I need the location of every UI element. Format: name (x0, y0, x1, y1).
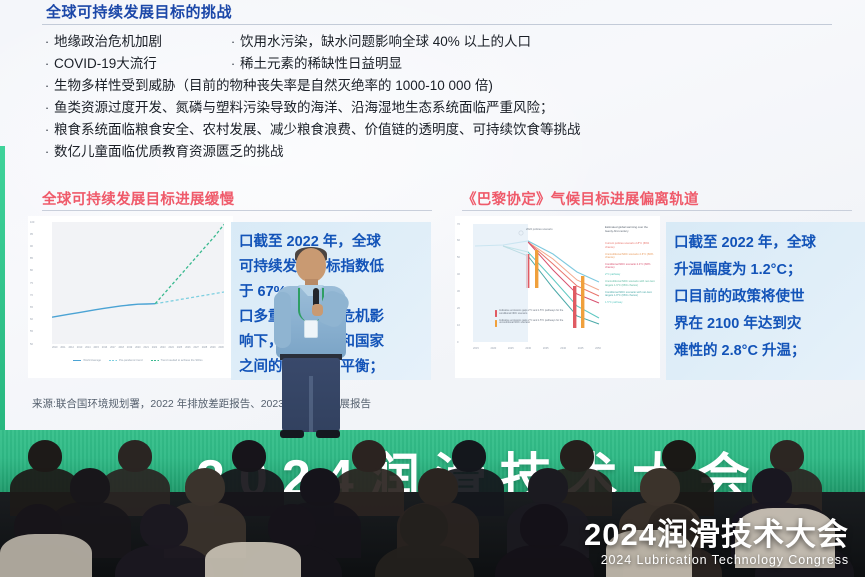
bullet-marker: · (40, 54, 54, 74)
audience-head (300, 468, 340, 506)
chart-x-tick: 2030 (218, 346, 223, 349)
bullet-text: 地缘政治危机加剧 (54, 32, 204, 52)
audience-head (752, 468, 792, 506)
legend-swatch-icon (151, 360, 159, 361)
chart-y-tick: 65 (30, 306, 33, 309)
bullet-row: · 粮食系统面临粮食安全、农村发展、减少粮食浪费、价值链的透明度、可持续饮食等挑… (40, 120, 840, 140)
chart-legend: World Average Pre-pandemic trend Trend n… (52, 359, 224, 362)
chart-key: Indicative emissions gaps 2°C and 1.5°C … (495, 310, 573, 329)
chart-y-tick: 20 (457, 307, 460, 310)
chart-x-tick: 2014 (85, 346, 90, 349)
bullet-marker: · (40, 76, 54, 96)
chart-x-tick: 2028 (202, 346, 207, 349)
chart-emissions-gap-warming: 706050403020100 2022 policies scenari (455, 216, 660, 378)
bullet-subrow: · 稀土元素的稀缺性日益明显 (226, 54, 402, 74)
event-watermark: 2024润滑技术大会 2024 Lubrication Technology C… (584, 517, 849, 567)
scenario-label: 2°C pathway (605, 273, 657, 276)
bullet-marker: · (40, 98, 54, 118)
chart-x-axis-labels: 2010201120122013201420152016201720182019… (52, 346, 224, 349)
chart-x-tick: 2035 (543, 347, 549, 350)
speaker-head (296, 248, 326, 282)
chart-x-tick: 2050 (595, 347, 601, 350)
panel-heading-left: 全球可持续发展目标进展缓慢 (42, 188, 234, 209)
speaker-badge (304, 320, 318, 338)
audience-head (185, 468, 225, 506)
chart-x-tick: 2015 (473, 347, 479, 350)
projected-slide: 全球可持续发展目标的挑战 · 地缘政治危机加剧 · 饮用水污染，缺水问题影响全球… (0, 0, 865, 430)
audience-head (520, 504, 568, 549)
bullet-row: · 地缘政治危机加剧 · 饮用水污染，缺水问题影响全球 40% 以上的人口 (40, 32, 840, 52)
chart-x-tick: 2020 (490, 347, 496, 350)
audience-seat-back (205, 542, 301, 577)
chart-y-tick: 10 (457, 324, 460, 327)
bullet-text: 数亿儿童面临优质教育资源匮乏的挑战 (54, 142, 284, 162)
speaker-shoe (280, 430, 304, 438)
chart-y-tick: 70 (30, 294, 33, 297)
bullet-row: · 数亿儿童面临优质教育资源匮乏的挑战 (40, 142, 840, 162)
scenario-marker-label: 2022 policies scenario (526, 228, 553, 231)
chart-y-tick: 60 (457, 239, 460, 242)
chart-x-tick: 2017 (110, 346, 115, 349)
speaker-shoe (316, 430, 340, 438)
bullet-text: 鱼类资源过度开发、氮磷与塑料污染导致的海洋、沿海湿地生态系统面临严重风险； (54, 98, 554, 118)
chart-y-tick: 70 (457, 223, 460, 226)
chart-x-tick: 2030 (525, 347, 531, 350)
chart-y-tick: 55 (30, 330, 33, 333)
slide-title: 全球可持续发展目标的挑战 (46, 1, 232, 22)
chart-x-tick: 2040 (560, 347, 566, 350)
chart-x-tick: 2012 (68, 346, 73, 349)
panel-divider-right (462, 210, 852, 211)
chart-y-tick: 60 (30, 318, 33, 321)
callout-line: 界在 2100 年达到灾 (674, 311, 859, 338)
bullet-row: · 生物多样性受到威胁（目前的物种丧失率是自然灭绝率的 1000-10 000 … (40, 76, 840, 96)
chart-y-tick: 50 (457, 256, 460, 259)
chart-notes: Estimated global warming over the twenty… (605, 226, 657, 308)
callout-line: 口截至 2022 年，全球 (674, 230, 859, 257)
chart-y-tick: 80 (30, 269, 33, 272)
chart-x-tick: 2011 (60, 346, 65, 349)
chart-lines (52, 222, 224, 344)
scenario-label: 1.5°C pathway (605, 301, 657, 304)
watermark-title-en: 2024 Lubrication Technology Congress (584, 553, 849, 567)
chart-x-tick: 2025 (508, 347, 514, 350)
key-item: Indicative emissions gaps 2°C and 1.5°C … (495, 310, 573, 317)
chart-y-tick: 75 (30, 282, 33, 285)
callout-line: 口目前的政策将使世 (674, 284, 859, 311)
speaker-figure (268, 248, 354, 438)
legend-swatch-icon (73, 360, 81, 361)
scenario-label: Unconditional NDC scenario 2.6°C (66% ch… (605, 253, 657, 260)
chart-y-tick: 0 (457, 341, 458, 344)
bullet-list: · 地缘政治危机加剧 · 饮用水污染，缺水问题影响全球 40% 以上的人口 · … (40, 32, 840, 164)
audience-head (140, 504, 188, 549)
scenario-label: Conditional NDC scenario 2.4°C (66% chan… (605, 263, 657, 270)
callout-box-right: 口截至 2022 年，全球 升温幅度为 1.2°C； 口目前的政策将使世 界在 … (666, 222, 865, 380)
chart-x-tick: 2018 (118, 346, 123, 349)
conference-stage-scene: 全球可持续发展目标的挑战 · 地缘政治危机加剧 · 饮用水污染，缺水问题影响全球… (0, 0, 865, 577)
chart-y-tick: 85 (30, 257, 33, 260)
chart-sdg-index-progress: 10095908580757065605550 2010201120122013… (28, 216, 233, 378)
chart-x-tick: 2015 (93, 346, 98, 349)
chart-x-tick: 2027 (193, 346, 198, 349)
chart-x-tick: 2022 (152, 346, 157, 349)
callout-line: 升温幅度为 1.2°C； (674, 257, 859, 284)
bullet-row: · 鱼类资源过度开发、氮磷与塑料污染导致的海洋、沿海湿地生态系统面临严重风险； (40, 98, 840, 118)
bullet-marker: · (226, 54, 240, 74)
chart-plot-area (52, 222, 224, 344)
panel-heading-right: 《巴黎协定》气候目标进展偏离轨道 (462, 188, 699, 209)
chart-x-tick: 2029 (210, 346, 215, 349)
scenario-label: Current policies scenario 2.8°C (66% cha… (605, 242, 657, 249)
chart-x-tick: 2024 (168, 346, 173, 349)
bullet-row: · COVID-19大流行 · 稀土元素的稀缺性日益明显 (40, 54, 840, 74)
chart-y-tick: 40 (457, 273, 460, 276)
chart-y-tick: 100 (30, 221, 34, 224)
speaker-hand (312, 304, 323, 316)
key-swatch-icon (495, 310, 497, 317)
key-item: Indicative emissions gaps 2°C and 1.5°C … (495, 320, 573, 327)
bullet-text: 饮用水污染，缺水问题影响全球 40% 以上的人口 (240, 32, 531, 52)
stage-wall-green-edge (0, 146, 5, 430)
audience-head (418, 468, 458, 506)
chart-y-tick: 95 (30, 233, 33, 236)
chart-x-axis-labels: 20152020202520302035204020452050 (473, 347, 601, 350)
chart-y-tick: 30 (457, 290, 460, 293)
callout-line: 难性的 2.8°C 升温； (674, 338, 859, 365)
panel-divider-left (42, 210, 432, 211)
bullet-text: COVID-19大流行 (54, 54, 204, 74)
key-label: Indicative emissions gaps 2°C and 1.5°C … (499, 310, 573, 317)
scenario-label: Unconditional NDC scenario with net-zero… (605, 280, 657, 287)
legend-swatch-icon (109, 360, 117, 361)
audience-head (400, 504, 448, 549)
legend-label: Pre-pandemic trend (119, 359, 143, 362)
bullet-marker: · (40, 142, 54, 162)
chart-y-tick: 90 (30, 245, 33, 248)
legend-label: World Average (83, 359, 101, 362)
audience-head (640, 468, 680, 506)
bullet-text: 粮食系统面临粮食安全、农村发展、减少粮食浪费、价值链的透明度、可持续饮食等挑战 (54, 120, 581, 140)
chart-scenario-labels: Current policies scenario 2.8°C (66% cha… (605, 242, 657, 304)
chart-x-tick: 2025 (177, 346, 182, 349)
speaker-left-arm (274, 292, 291, 348)
bullet-text: 生物多样性受到威胁（目前的物种丧失率是自然灭绝率的 1000-10 000 倍) (54, 76, 493, 96)
audience-seat-back (0, 534, 92, 577)
scenario-label: Conditional NDC scenario with net-zero t… (605, 291, 657, 298)
watermark-title-cn: 2024润滑技术大会 (584, 517, 849, 553)
bullet-marker: · (226, 32, 240, 52)
chart-x-tick: 2021 (143, 346, 148, 349)
chart-x-tick: 2045 (578, 347, 584, 350)
bullet-text: 稀土元素的稀缺性日益明显 (240, 54, 402, 74)
legend-item: Pre-pandemic trend (109, 359, 143, 362)
chart-x-tick: 2019 (127, 346, 132, 349)
chart-x-tick: 2013 (77, 346, 82, 349)
legend-label: Trend needed to achieve the SDGs (161, 359, 203, 362)
speaker-leg-gap (309, 376, 313, 432)
bullet-marker: · (40, 32, 54, 52)
key-swatch-icon (495, 320, 497, 327)
chart-x-tick: 2020 (135, 346, 140, 349)
bullet-marker: · (40, 120, 54, 140)
chart-x-tick: 2023 (160, 346, 165, 349)
chart-x-tick: 2026 (185, 346, 190, 349)
legend-item: Trend needed to achieve the SDGs (151, 359, 203, 362)
chart-note-title: Estimated global warming over the twenty… (605, 226, 657, 233)
chart-x-tick: 2010 (52, 346, 57, 349)
chart-plot-area: 2022 policies scenario Indicative emissi… (473, 224, 601, 342)
key-label: Indicative emissions gaps 2°C and 1.5°C … (499, 320, 573, 327)
audience-head (528, 468, 568, 506)
legend-item: World Average (73, 359, 101, 362)
chart-x-tick: 2016 (102, 346, 107, 349)
audience-head (70, 468, 110, 506)
title-divider (42, 24, 832, 25)
chart-y-tick: 50 (30, 343, 33, 346)
bullet-subrow: · 饮用水污染，缺水问题影响全球 40% 以上的人口 (226, 32, 531, 52)
